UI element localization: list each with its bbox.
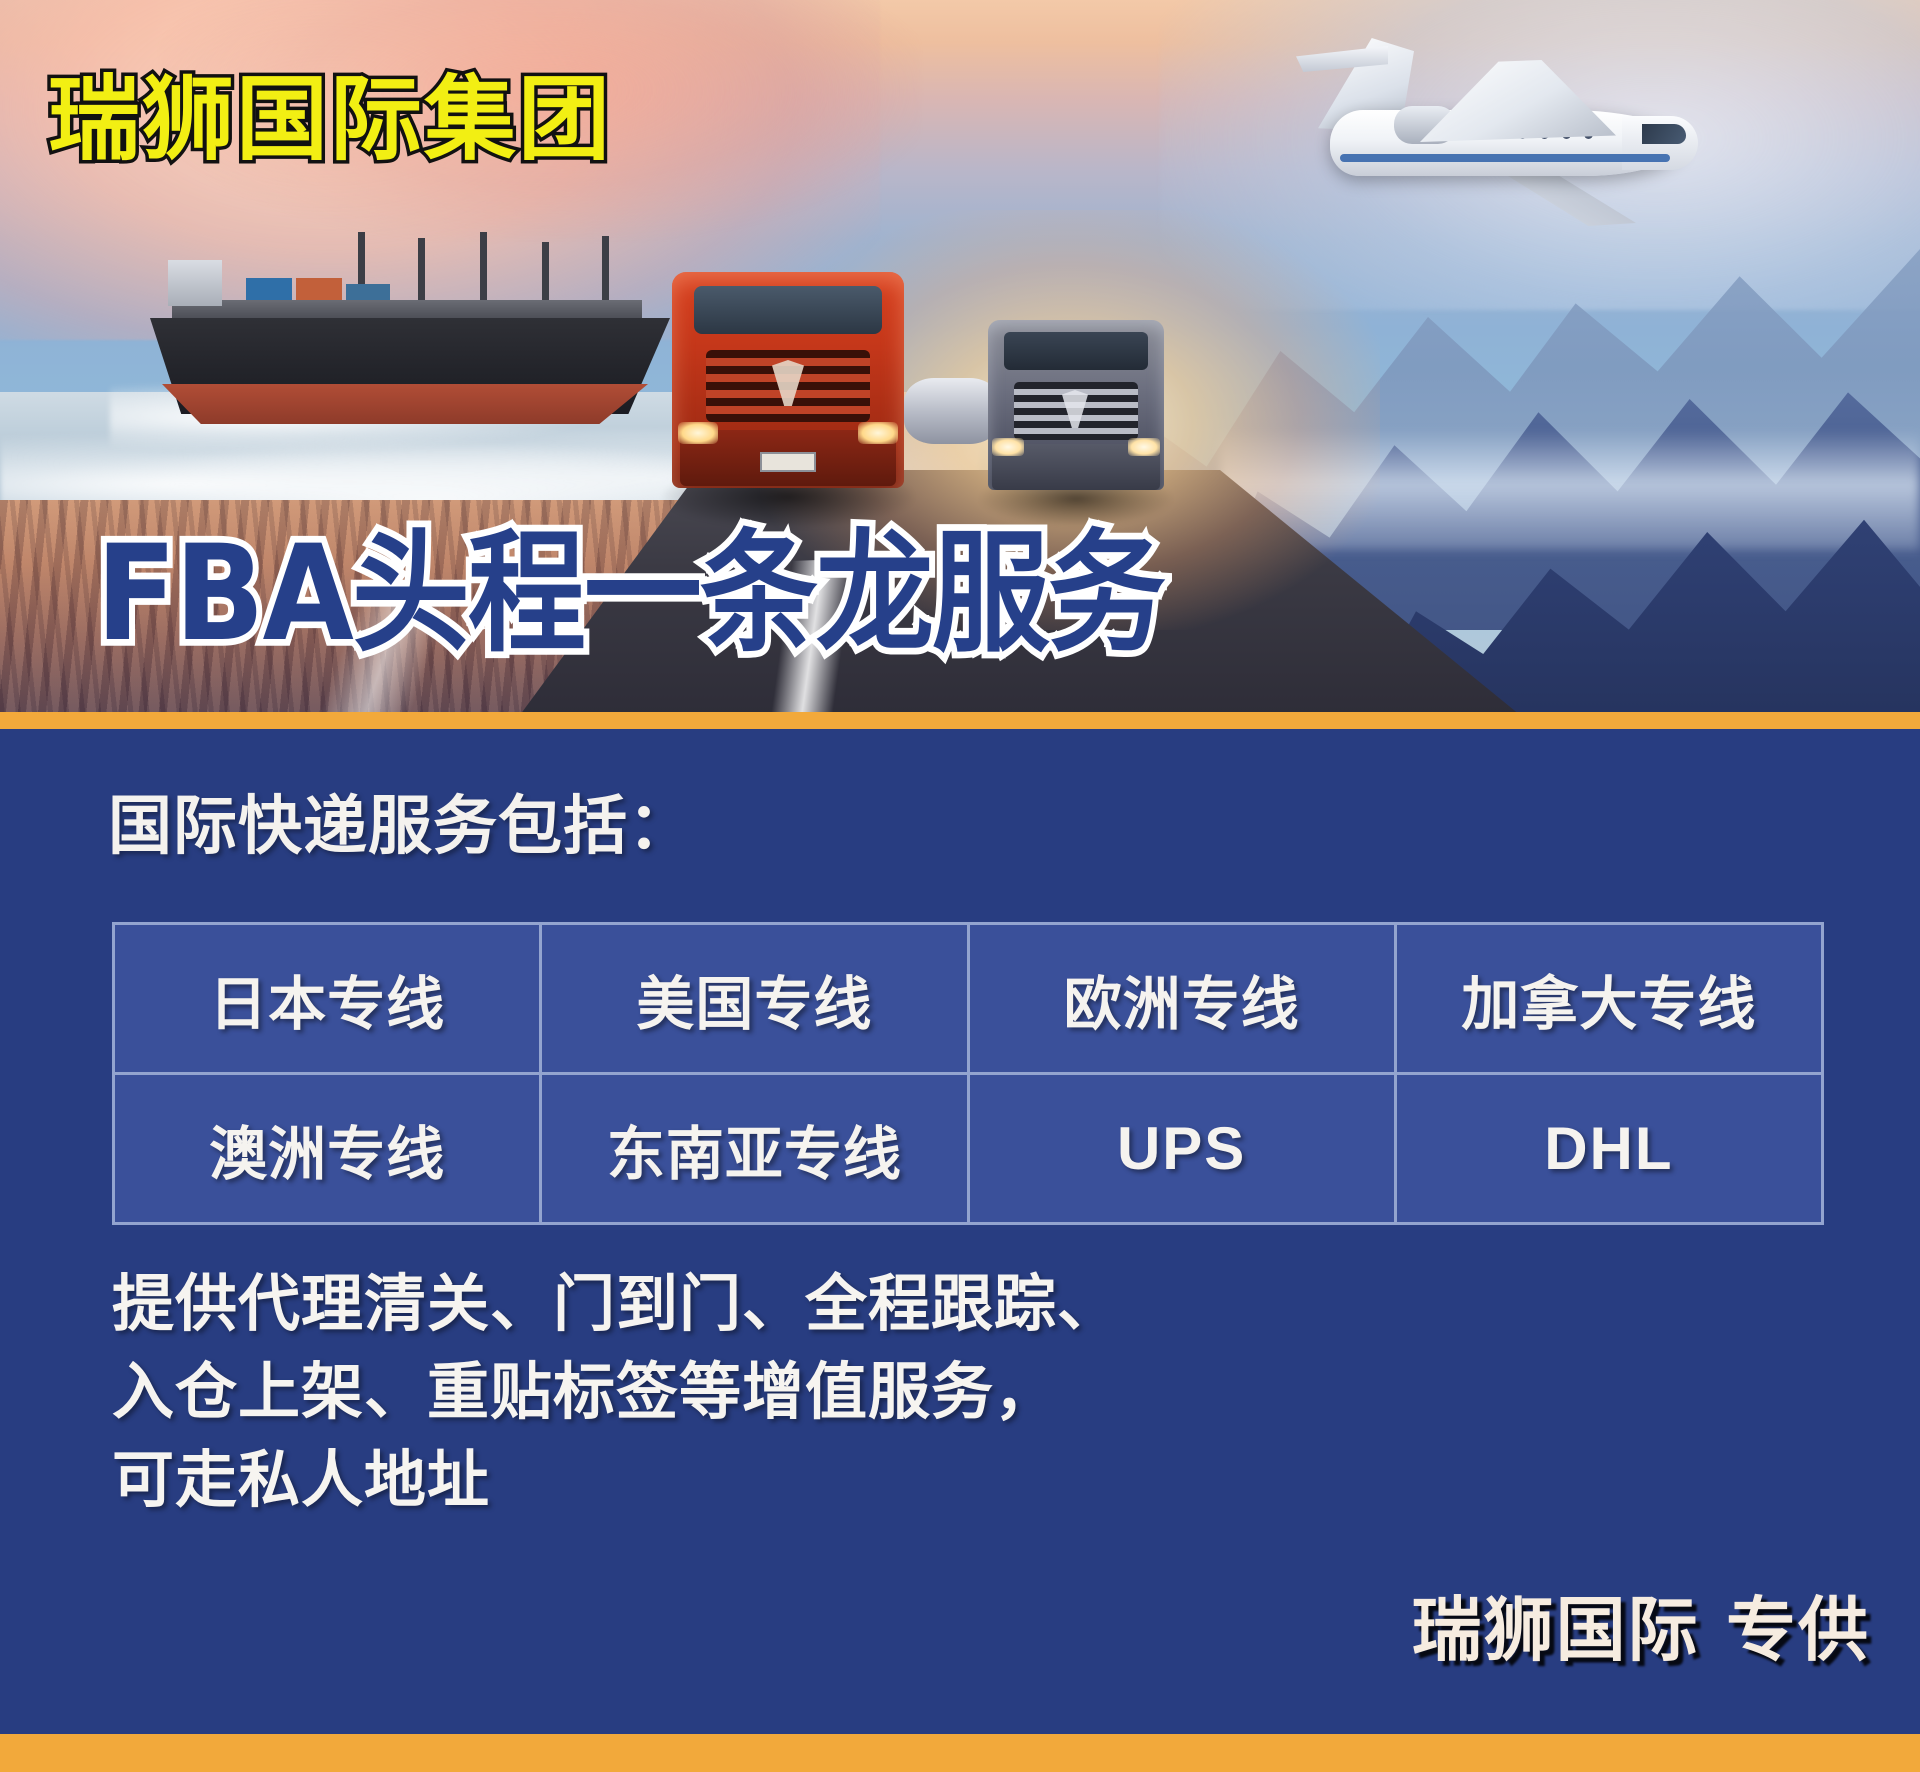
plane-wing-main: [1420, 60, 1616, 142]
footer-brand-text: 瑞狮国际 专供: [1412, 1595, 1870, 1665]
table-cell-australia-line[interactable]: 澳洲专线: [114, 1074, 541, 1224]
cargo-airplane-icon: [1270, 30, 1700, 245]
truck-windshield: [1004, 332, 1148, 370]
divider-orange-bottom: [0, 1734, 1920, 1772]
ship-superstructure: [168, 260, 222, 306]
ship-crane: [480, 232, 487, 306]
value-added-services-text: 提供代理清关、门到门、全程跟踪、 入仓上架、重贴标签等增值服务， 可走私人地址: [112, 1260, 1512, 1524]
truck-headlight-left: [678, 422, 718, 444]
body-line-3: 可走私人地址: [112, 1436, 1512, 1524]
company-logo-text: 瑞狮国际集团: [48, 74, 612, 166]
red-semi-truck-icon: [672, 272, 904, 530]
ship-crane: [542, 242, 549, 306]
truck-license-plate: [760, 452, 816, 472]
table-cell-southeast-asia-line[interactable]: 东南亚专线: [541, 1074, 968, 1224]
plane-cockpit-window: [1642, 124, 1686, 144]
ship-hull-waterline: [162, 384, 648, 424]
truck-windshield: [694, 286, 882, 334]
tanker-trailer: [904, 378, 1000, 444]
truck-headlight-left: [992, 438, 1024, 456]
section-heading: 国际快递服务包括：: [108, 795, 693, 859]
table-cell-dhl[interactable]: DHL: [1395, 1074, 1822, 1224]
service-lines-table: 日本专线 美国专线 欧洲专线 加拿大专线 澳洲专线 东南亚专线 UPS DHL: [112, 922, 1824, 1225]
plane-livery-stripe: [1340, 154, 1670, 162]
divider-orange-top: [0, 712, 1920, 729]
info-panel: [0, 729, 1920, 1734]
cargo-ship-icon: [150, 232, 670, 432]
hero-photo-collage: 瑞狮国际集团 FBA头程一条龙服务: [0, 0, 1920, 712]
ship-crane: [418, 238, 425, 306]
body-line-2: 入仓上架、重贴标签等增值服务，: [112, 1348, 1512, 1436]
poster-canvas: 瑞狮国际集团 FBA头程一条龙服务 国际快递服务包括： 日本专线 美国专线 欧洲…: [0, 0, 1920, 1772]
table-cell-canada-line[interactable]: 加拿大专线: [1395, 924, 1822, 1074]
ship-crane: [602, 236, 609, 306]
page-title: FBA头程一条龙服务: [96, 527, 1164, 659]
table-cell-usa-line[interactable]: 美国专线: [541, 924, 968, 1074]
truck-headlight-right: [858, 422, 898, 444]
table-row: 日本专线 美国专线 欧洲专线 加拿大专线: [114, 924, 1823, 1074]
table-row: 澳洲专线 东南亚专线 UPS DHL: [114, 1074, 1823, 1224]
truck-headlight-right: [1128, 438, 1160, 456]
table-cell-europe-line[interactable]: 欧洲专线: [968, 924, 1395, 1074]
table-cell-japan-line[interactable]: 日本专线: [114, 924, 541, 1074]
grey-tanker-truck-icon: [988, 320, 1164, 528]
body-line-1: 提供代理清关、门到门、全程跟踪、: [112, 1260, 1512, 1348]
table-cell-ups[interactable]: UPS: [968, 1074, 1395, 1224]
